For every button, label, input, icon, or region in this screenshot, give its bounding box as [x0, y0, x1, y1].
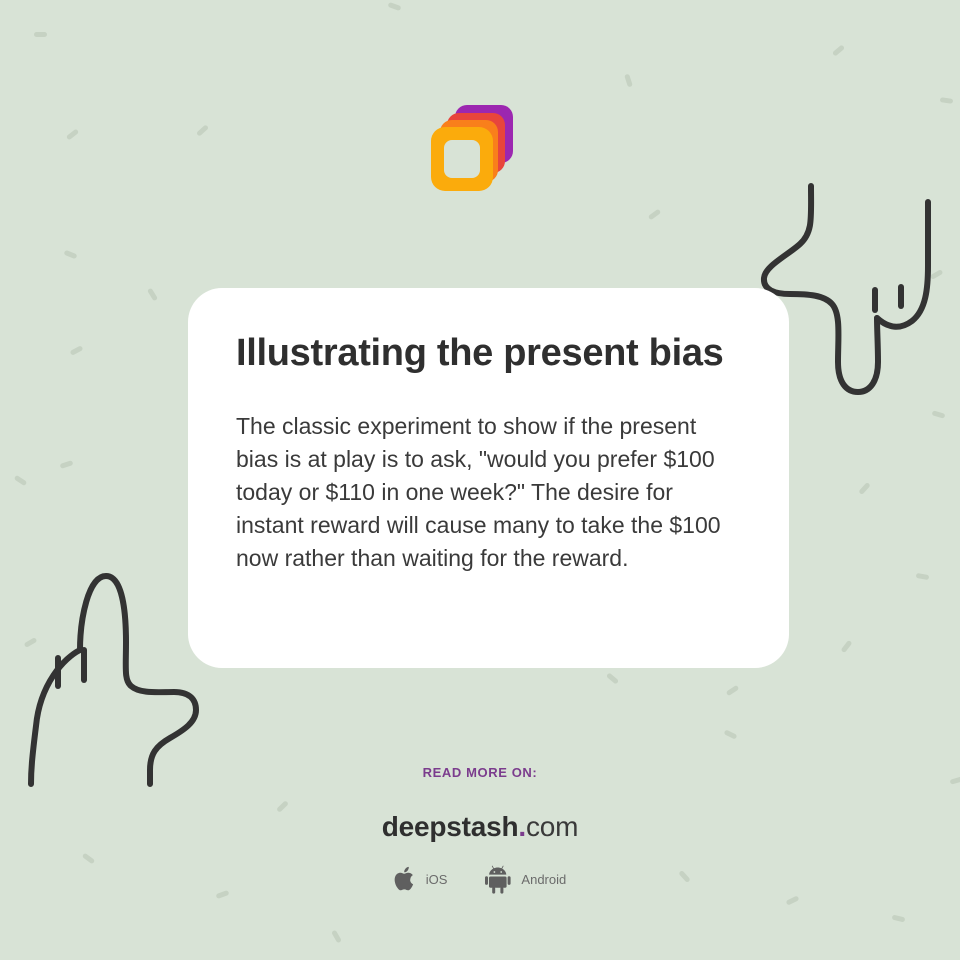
confetti-dash	[147, 288, 158, 302]
confetti-dash	[70, 345, 84, 356]
confetti-dash	[916, 573, 930, 580]
confetti-dash	[940, 97, 954, 104]
confetti-dash	[331, 930, 342, 944]
confetti-dash	[606, 672, 619, 684]
confetti-dash	[726, 685, 740, 696]
confetti-dash	[66, 129, 79, 141]
confetti-dash	[64, 250, 78, 260]
store-label-android: Android	[521, 872, 566, 887]
confetti-dash	[34, 32, 47, 37]
card-title: Illustrating the present bias	[236, 328, 741, 378]
read-more-label: READ MORE ON:	[0, 765, 960, 780]
brand-tld: com	[526, 811, 578, 842]
deepstash-logo	[431, 105, 517, 193]
confetti-dash	[388, 2, 402, 11]
confetti-dash	[932, 410, 946, 418]
app-store-badges: iOS Android	[0, 864, 960, 894]
store-label-ios: iOS	[426, 872, 448, 887]
confetti-dash	[930, 269, 944, 280]
confetti-dash	[624, 74, 633, 88]
apple-icon	[394, 865, 418, 893]
confetti-dash	[786, 895, 800, 905]
confetti-dash	[14, 475, 28, 486]
android-icon	[485, 864, 513, 894]
store-badge-android[interactable]: Android	[485, 864, 566, 894]
confetti-dash	[858, 482, 870, 495]
confetti-dash	[841, 640, 853, 653]
store-badge-ios[interactable]: iOS	[394, 865, 448, 893]
quote-card: Illustrating the present bias The classi…	[188, 288, 789, 668]
confetti-dash	[196, 124, 209, 136]
confetti-dash	[724, 729, 738, 739]
card-body-text: The classic experiment to show if the pr…	[236, 410, 741, 575]
brand-wordmark[interactable]: deepstash.com	[0, 811, 960, 843]
logo-center-cutout-icon	[444, 140, 480, 178]
footer: READ MORE ON: deepstash.com iOS	[0, 765, 960, 894]
confetti-dash	[60, 460, 74, 469]
confetti-dash	[24, 637, 38, 648]
confetti-dash	[832, 44, 845, 56]
brand-dot-icon: .	[518, 811, 526, 842]
share-card-canvas: Illustrating the present bias The classi…	[0, 0, 960, 960]
confetti-dash	[892, 915, 906, 923]
confetti-dash	[648, 209, 661, 221]
brand-name: deepstash	[382, 811, 519, 842]
